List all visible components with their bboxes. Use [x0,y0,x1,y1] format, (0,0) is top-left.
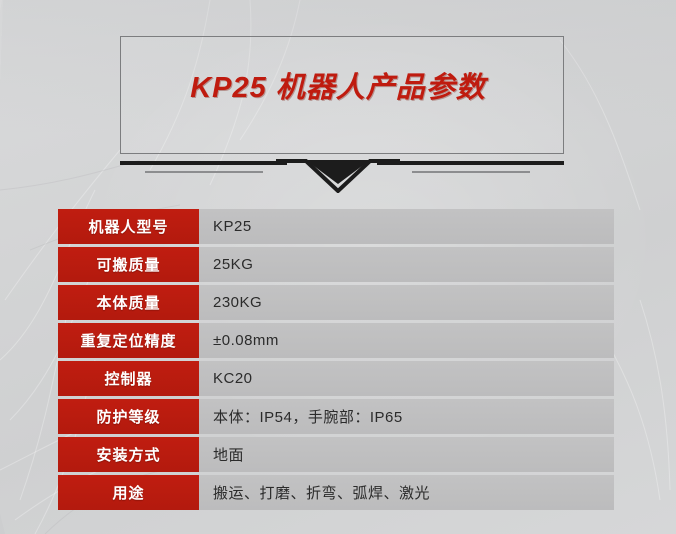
spec-label-body-weight: 本体质量 [58,285,199,320]
table-row: 用途 搬运、打磨、折弯、弧焊、激光 [58,475,614,510]
spec-label-payload: 可搬质量 [58,247,199,282]
table-row: 防护等级 本体：IP54，手腕部：IP65 [58,399,614,434]
spec-label-robot-model: 机器人型号 [58,209,199,244]
spec-value-payload: 25KG [199,247,614,282]
header-rule-thin-left [145,171,263,173]
table-row: 机器人型号 KP25 [58,209,614,244]
table-row: 重复定位精度 ±0.08mm [58,323,614,358]
spec-label-controller: 控制器 [58,361,199,396]
table-row: 可搬质量 25KG [58,247,614,282]
chevron-down-fill-icon [306,160,370,184]
spec-label-repeatability: 重复定位精度 [58,323,199,358]
header-rule-thick-left [120,161,287,165]
spec-value-repeatability: ±0.08mm [199,323,614,358]
spec-label-application: 用途 [58,475,199,510]
table-row: 控制器 KC20 [58,361,614,396]
spec-label-mounting: 安装方式 [58,437,199,472]
spec-value-protection: 本体：IP54，手腕部：IP65 [199,399,614,434]
spec-label-protection: 防护等级 [58,399,199,434]
spec-value-controller: KC20 [199,361,614,396]
spec-value-application: 搬运、打磨、折弯、弧焊、激光 [199,475,614,510]
spec-value-body-weight: 230KG [199,285,614,320]
spec-table: 机器人型号 KP25 可搬质量 25KG 本体质量 230KG 重复定位精度 ±… [58,209,614,510]
table-row: 本体质量 230KG [58,285,614,320]
spec-value-robot-model: KP25 [199,209,614,244]
table-row: 安装方式 地面 [58,437,614,472]
header-rule-thick-right [377,161,564,165]
page-title: KP25 机器人产品参数 [0,64,676,106]
header-rule-thin-right [412,171,530,173]
product-spec-poster: KP25 机器人产品参数 机器人型号 KP25 可搬质量 25KG 本体质量 2… [0,0,676,534]
spec-value-mounting: 地面 [199,437,614,472]
